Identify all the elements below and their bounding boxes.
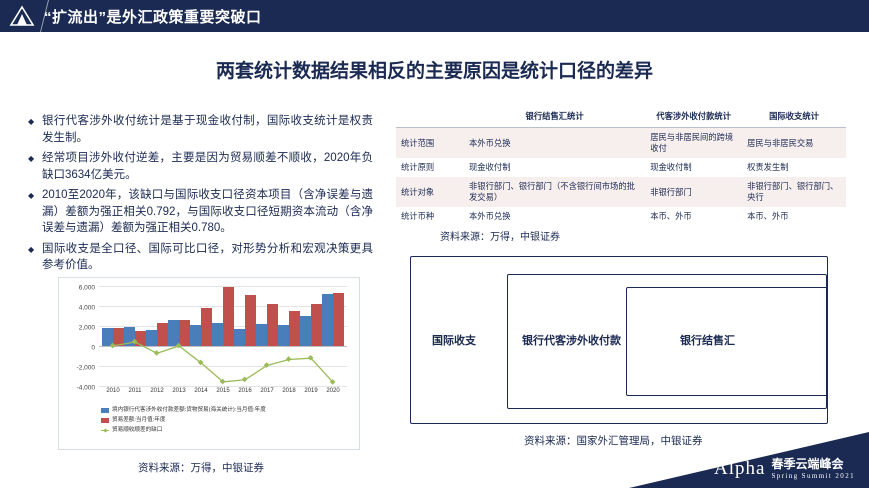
y-tick-label: 6,000 [79,285,95,292]
triangle-logo-icon [0,0,44,32]
table-cell: 非银行部门、银行部门（不含银行间市场的批发交易） [464,177,645,207]
table-row: 统计对象 非银行部门、银行部门（不含银行间市场的批发交易） 非银行部门 非银行部… [396,177,846,207]
legend-label: 境内银行代客涉外收付款差额:货物贸易(海关统计):当月值:年度 [112,406,266,415]
y-tick-label: -2,000 [77,365,95,372]
list-item: ◆ 银行代客涉外收付统计是基于现金收付制，国际收支统计是权责发生制。 [28,113,373,146]
chart-legend: 境内银行代客涉外收付款差额:货物贸易(海关统计):当月值:年度 贸易差额:当月值… [101,406,351,436]
table-header-row: 银行结售汇统计 代客涉外收付款统计 国际收支统计 [396,107,846,128]
bullet-marker-icon: ◆ [28,150,42,183]
table-cell: 本币、外币 [742,207,846,226]
x-tick-label: 2011 [129,388,142,394]
x-tick-label: 2014 [194,388,207,394]
chart-y-axis: 6,000 4,000 2,000 0 -2,000 -4,000 [61,280,97,392]
chart-gap-line [99,286,347,386]
brand-lockup: Alpha 春季云端峰会 Spring Summit 2021 [714,455,855,480]
y-tick-label: 0 [91,345,95,352]
inner-scope-label: 银行结售汇 [680,332,735,348]
table-cell: 居民与非居民间的跨境收付 [645,128,742,159]
legend-line-icon [101,428,109,433]
x-tick-label: 2019 [304,388,317,394]
y-tick-label: -4,000 [77,385,95,392]
table-cell: 非银行部门 [645,177,742,207]
top-banner: “扩流出”是外汇政策重要突破口 [0,0,869,32]
legend-label: 贸易差额:当月值:年度 [112,416,165,425]
list-item: ◆ 经常项目涉外收付逆差，主要是因为贸易顺差不顺收，2020年负缺口3634亿美… [28,150,373,183]
legend-swatch-icon [101,418,109,423]
bar-chart: 6,000 4,000 2,000 0 -2,000 -4,000 [58,277,360,450]
table-source: 资料来源：万得，中银证券 [440,228,560,243]
bullet-list: ◆ 银行代客涉外收付统计是基于现金收付制，国际收支统计是权责发生制。 ◆ 经常项… [28,113,373,278]
chart-x-axis: 2010 2011 2012 2013 2014 2015 2016 2017 … [99,388,347,400]
table-cell: 现金收付制 [464,158,645,177]
table-cell: 现金收付制 [645,158,742,177]
x-tick-label: 2015 [216,388,229,394]
bullet-marker-icon: ◆ [28,241,42,274]
chart-plot-area [99,286,347,386]
legend-label: 贸易顺收顺差的缺口 [112,426,162,435]
table-row: 统计原则 现金收付制 现金收付制 权责发生制 [396,158,846,177]
table-header-cell: 银行结售汇统计 [464,107,645,128]
bullet-text: 2010至2020年，该缺口与国际收支口径资本项目（含净误差与遗漏）差额为强正相… [42,187,373,237]
legend-item: 贸易差额:当月值:年度 [101,416,351,425]
bullet-text: 银行代客涉外收付统计是基于现金收付制，国际收支统计是权责发生制。 [42,113,373,146]
x-tick-label: 2018 [282,388,295,394]
legend-item: 境内银行代客涉外收付款差额:货物贸易(海关统计):当月值:年度 [101,406,351,415]
banner-title: “扩流出”是外汇政策重要突破口 [44,6,262,27]
page-title: 两套统计数据结果相反的主要原因是统计口径的差异 [0,56,869,83]
table-cell: 本外币兑换 [464,128,645,159]
middle-scope-label: 银行代客涉外收付款 [522,332,621,348]
table-cell: 统计对象 [396,177,464,207]
legend-item: 贸易顺收顺差的缺口 [101,426,351,435]
comparison-table: 银行结售汇统计 代客涉外收付款统计 国际收支统计 统计范围 本外币兑换 居民与非… [396,107,846,226]
table-cell: 本币、外币 [645,207,742,226]
x-tick-label: 2013 [172,388,185,394]
table-cell: 居民与非居民交易 [742,128,846,159]
x-tick-label: 2016 [238,388,251,394]
bullet-text: 国际收支是全口径、国际可比口径，对形势分析和宏观决策更具参考价值。 [42,241,373,274]
x-tick-label: 2010 [106,388,119,394]
y-tick-label: 4,000 [79,305,95,312]
brand-sub-text: Spring Summit 2021 [771,472,855,480]
table-cell: 统计原则 [396,158,464,177]
table-cell: 统计范围 [396,128,464,159]
table-row: 统计币种 本外币兑换 本币、外币 本币、外币 [396,207,846,226]
bullet-marker-icon: ◆ [28,187,42,237]
x-tick-label: 2020 [326,388,339,394]
table-header-cell [396,107,464,128]
table-cell: 权责发生制 [742,158,846,177]
outer-scope-label: 国际收支 [432,332,476,348]
legend-swatch-icon [101,408,109,413]
brand-alpha-text: Alpha [714,458,765,480]
table-cell: 非银行部门、银行部门、央行 [742,177,846,207]
y-tick-label: 2,000 [79,325,95,332]
brand-cn-text: 春季云端峰会 [771,455,843,472]
list-item: ◆ 国际收支是全口径、国际可比口径，对形势分析和宏观决策更具参考价值。 [28,241,373,274]
bullet-text: 经常项目涉外收付逆差，主要是因为贸易顺差不顺收，2020年负缺口3634亿美元。 [42,150,373,183]
chart-source: 资料来源：万得，中银证券 [138,460,264,475]
table-cell: 本外币兑换 [464,207,645,226]
table-header-cell: 国际收支统计 [742,107,846,128]
nested-scope-diagram: 国际收支 银行代客涉外收付款 银行结售汇 [410,256,828,446]
x-tick-label: 2017 [260,388,273,394]
table-header-cell: 代客涉外收付款统计 [645,107,742,128]
x-tick-label: 2012 [150,388,163,394]
table-cell: 统计币种 [396,207,464,226]
list-item: ◆ 2010至2020年，该缺口与国际收支口径资本项目（含净误差与遗漏）差额为强… [28,187,373,237]
bullet-marker-icon: ◆ [28,113,42,146]
table-row: 统计范围 本外币兑换 居民与非居民间的跨境收付 居民与非居民交易 [396,128,846,159]
